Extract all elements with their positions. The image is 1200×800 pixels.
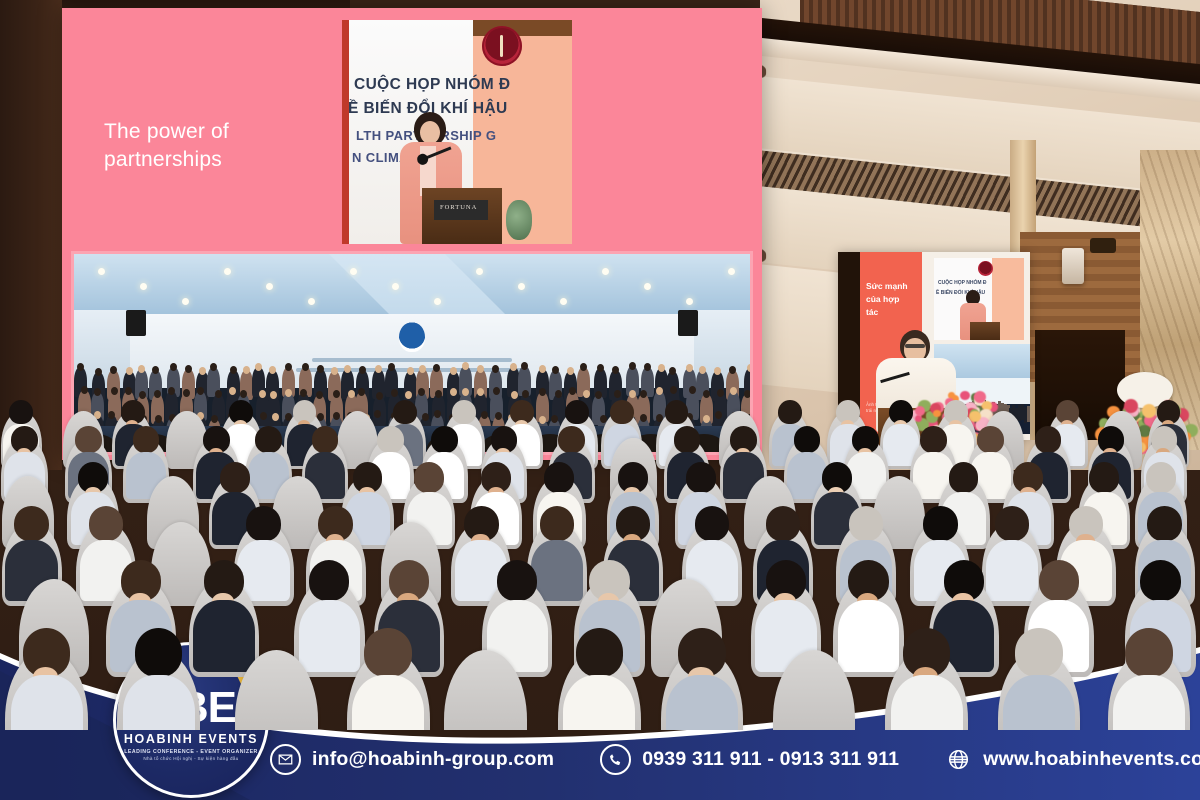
ceiling-light [434, 298, 441, 305]
audience-head [135, 628, 183, 677]
ceiling-light [98, 268, 105, 275]
main-projection-screen: The power of partnerships Photo top left… [62, 8, 762, 460]
footer-contacts: info@hoabinh-group.com 0939 311 911 - 09… [270, 736, 1170, 782]
delegate-head [435, 390, 442, 398]
audience-head [920, 426, 947, 453]
ceiling-light [350, 268, 357, 275]
delegate-head [714, 367, 721, 375]
audience-shoulders [193, 600, 254, 671]
delegate-head [185, 365, 192, 373]
delegate-head [230, 366, 237, 374]
audience-shoulders [123, 675, 195, 730]
audience-shoulders [666, 675, 738, 730]
audience-seating [0, 400, 1200, 730]
audience-head [364, 628, 412, 677]
delegate-head [126, 367, 133, 375]
ceiling-camera-icon [1090, 238, 1116, 253]
delegate-head [110, 366, 117, 374]
ceiling-light [644, 283, 651, 290]
delegate-head [511, 391, 518, 399]
audience-shoulders [1003, 675, 1075, 730]
delegate-head [552, 366, 559, 374]
ceiling-light [476, 268, 483, 275]
delegate-head [450, 388, 457, 396]
audience-member [193, 560, 254, 669]
audience-head [255, 426, 282, 453]
flower-petal [960, 391, 969, 400]
delegate-head [210, 363, 217, 371]
audience-head [849, 506, 883, 541]
ministry-of-health-emblem-icon [482, 26, 522, 66]
audience-head [431, 426, 458, 453]
audience-head [665, 400, 689, 424]
ceiling-light [308, 298, 315, 305]
ceiling-light [518, 283, 525, 290]
logo-company-name: HOABINH EVENTS [124, 732, 258, 746]
audience-head [393, 400, 417, 424]
ceiling-light [602, 268, 609, 275]
audience-shoulders [11, 675, 83, 730]
delegate-head [730, 387, 737, 395]
podium-nameplate [434, 200, 488, 220]
audience-head [377, 426, 404, 453]
ceiling-light [224, 268, 231, 275]
wall-speaker-icon [1062, 248, 1084, 284]
delegate-head [376, 392, 383, 400]
audience-head [1147, 506, 1181, 541]
delegate-head [94, 388, 101, 396]
audience-head [1089, 462, 1119, 493]
backdrop-red-stripe [342, 20, 349, 244]
ministry-of-health-emblem-icon [978, 261, 993, 276]
audience-member [891, 628, 963, 730]
screen2-title-line3: tác [866, 306, 922, 319]
audience-head [75, 426, 102, 453]
delegate-head [81, 386, 88, 394]
delegate-head [717, 389, 724, 397]
audience-head [452, 400, 476, 424]
contact-email[interactable]: info@hoabinh-group.com [270, 744, 554, 775]
audience-head [558, 426, 585, 453]
phone-icon [600, 744, 631, 775]
audience-head [220, 462, 250, 493]
audience-head [497, 560, 537, 601]
audience-head [949, 462, 979, 493]
delegate-head [243, 366, 250, 374]
screen2-title-line2: của hợp [866, 293, 922, 306]
delegate-head [555, 390, 562, 398]
contact-website[interactable]: www.hoabinhevents.com [945, 746, 1200, 773]
ceiling-light [686, 298, 693, 305]
delegate-head [747, 364, 750, 372]
delegate-head [658, 364, 665, 372]
delegate-head [629, 362, 636, 370]
backdrop-text-blur [312, 358, 512, 362]
hall-speaker-icon [126, 310, 146, 336]
audience-head [1146, 462, 1176, 493]
delegate-head [300, 389, 307, 397]
delegate-head [139, 391, 146, 399]
speaker-glasses-icon [905, 344, 925, 348]
delegate-head [583, 390, 590, 398]
audience-head [576, 628, 624, 677]
screen2-title: Sức mạnh của hợp tác [866, 280, 922, 318]
audience-member [352, 628, 424, 730]
delegate-head [744, 390, 750, 398]
delegate-head [229, 387, 236, 395]
email-icon [270, 744, 301, 775]
audience-head [995, 506, 1029, 541]
delegate-head [419, 365, 426, 373]
audience-head [1035, 426, 1062, 453]
audience-shoulders [299, 600, 360, 671]
audience-head [778, 400, 802, 424]
delegate-head [215, 390, 222, 398]
screen2-photo-top: CUỘC HỌP NHÓM Đ Ề BIẾN ĐỔI KHÍ HẬU [934, 258, 1024, 340]
delegate-head [640, 390, 647, 398]
delegate-head [569, 387, 576, 395]
conference-photo-banner: The power of partnerships Photo top left… [0, 0, 1200, 800]
audience-head [1140, 560, 1180, 601]
delegate-head [111, 387, 118, 395]
audience-head [610, 400, 634, 424]
delegate-head [670, 386, 677, 394]
audience-head [1039, 560, 1079, 601]
audience-head [977, 426, 1004, 453]
delegate-head [405, 391, 412, 399]
delegate-head [433, 364, 440, 372]
audience-member [299, 560, 360, 669]
audience-member [11, 628, 83, 730]
audience-member [1113, 628, 1185, 730]
audience-head [1125, 628, 1173, 677]
slide-title-line2: partnerships [104, 146, 334, 174]
globe-icon [945, 746, 972, 773]
contact-phone[interactable]: 0939 311 911 - 0913 311 911 [600, 744, 899, 775]
delegate-head [170, 363, 177, 371]
delegate-head [316, 391, 323, 399]
audience-shoulders [563, 675, 635, 730]
audience-shoulders [891, 675, 963, 730]
delegate-head [95, 368, 102, 376]
delegate-head [388, 363, 395, 371]
audience-member [123, 628, 195, 730]
audience-head [312, 426, 339, 453]
audience-shoulders [352, 675, 424, 730]
audience-head [565, 400, 589, 424]
delegate-head [125, 387, 132, 395]
screen2-backdrop-text1: CUỘC HỌP NHÓM Đ [938, 280, 987, 286]
audience-head [309, 560, 349, 601]
audience-member [563, 628, 635, 730]
audience-head [540, 506, 574, 541]
audience-head [9, 400, 33, 424]
audience-head [923, 506, 957, 541]
speaker-figure [394, 112, 468, 244]
ceiling-light [266, 283, 273, 290]
decorative-plant [506, 200, 532, 240]
delegate-head [168, 387, 175, 395]
delegate-head [729, 366, 736, 374]
ceiling-light [728, 268, 735, 275]
delegate-head [344, 365, 351, 373]
delegate-head [138, 365, 145, 373]
audience-head [1015, 628, 1063, 677]
delegate-head [154, 390, 161, 398]
delegate-head [359, 366, 366, 374]
delegate-head [407, 367, 414, 375]
ceiling-light [182, 298, 189, 305]
delegate-head [689, 386, 696, 394]
audience-head [14, 506, 48, 541]
audience-head [686, 462, 716, 493]
delegate-head [539, 388, 546, 396]
audience-head [794, 426, 821, 453]
hall-speaker-icon [678, 310, 698, 336]
slide-title: The power of partnerships [104, 118, 334, 173]
backdrop-text-line1: CUỘC HỌP NHÓM Đ [354, 76, 510, 94]
ceiling-light [392, 283, 399, 290]
audience-head [544, 462, 574, 493]
delegate-head [331, 367, 338, 375]
logo-tagline-vi: Nhà tổ chức Hội nghị - Sự kiện hàng đầu [143, 756, 238, 761]
hall-emblem-icon [399, 322, 425, 352]
audience-member [666, 628, 738, 730]
audience-head [414, 462, 444, 493]
audience-member [1003, 628, 1075, 730]
delegate-head [669, 367, 676, 375]
audience-head [246, 506, 280, 541]
slide-photo-top: CUỘC HỌP NHÓM Đ Ề BIẾN ĐỔI KHÍ HẬU LTH P… [342, 20, 572, 244]
contact-website-label: www.hoabinhevents.com [983, 748, 1200, 771]
ceiling-light [140, 283, 147, 290]
delegate-head [614, 390, 621, 398]
audience-shoulders [1113, 675, 1185, 730]
screen2-title-line1: Sức mạnh [866, 280, 922, 293]
audience-head [674, 426, 701, 453]
audience-head [766, 506, 800, 541]
contact-email-label: info@hoabinh-group.com [312, 748, 554, 771]
slide-title-line1: The power of [104, 118, 334, 146]
delegate-head [462, 388, 469, 396]
audience-head [695, 506, 729, 541]
delegate-head [629, 390, 636, 398]
speaker-face [420, 121, 440, 144]
audience-head [89, 506, 123, 541]
contact-phone-label: 0939 311 911 - 0913 311 911 [642, 748, 899, 771]
delegate-head [492, 365, 499, 373]
ceiling-light [560, 298, 567, 305]
hall-ceiling [74, 254, 750, 320]
delegate-head [302, 363, 309, 371]
audience-head [133, 426, 160, 453]
logo-tagline-en: LEADING CONFERENCE - EVENT ORGANIZER [124, 749, 258, 755]
